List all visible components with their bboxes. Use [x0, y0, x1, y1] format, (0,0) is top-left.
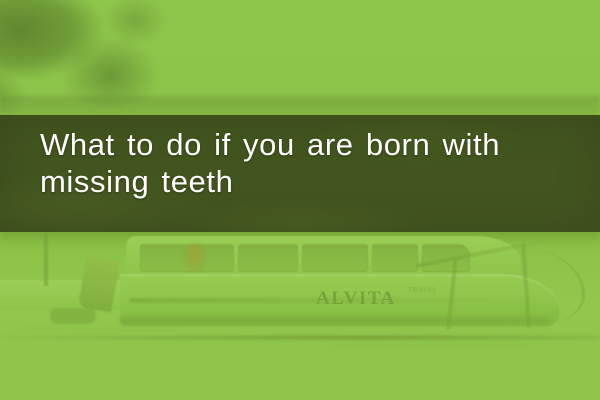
boat-name-text: ALVITA	[316, 288, 396, 310]
cabin-window	[302, 244, 368, 272]
water-reflection	[20, 328, 180, 330]
main-boat: ALVITA TRAVEL	[120, 236, 590, 341]
mast-pole	[44, 234, 48, 286]
person-silhouette	[184, 244, 206, 272]
water-reflection	[120, 318, 440, 320]
water-reflection	[330, 344, 530, 346]
banner-headline: What to do if you are born with missing …	[40, 126, 580, 200]
propeller-housing	[50, 308, 96, 324]
waterline	[0, 336, 600, 339]
boat-name-subtext: TRAVEL	[408, 286, 438, 294]
banner-image: ALVITA TRAVEL What to do if you are born…	[0, 0, 600, 400]
cabin-window	[372, 244, 418, 272]
cabin-window	[238, 244, 298, 272]
